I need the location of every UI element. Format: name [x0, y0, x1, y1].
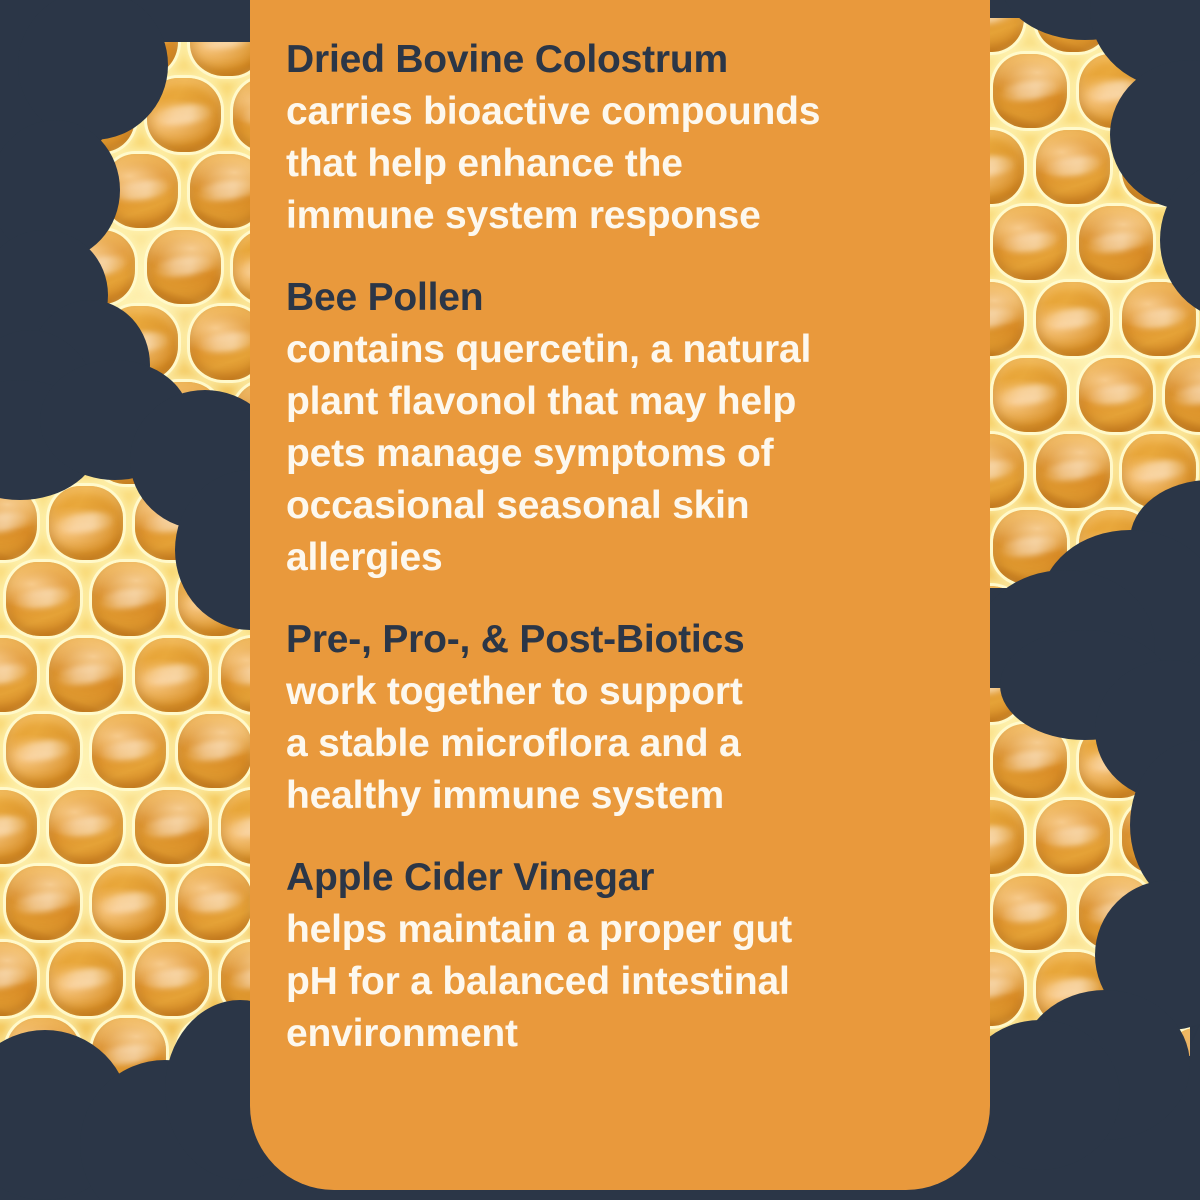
- honeycomb-cell: [993, 358, 1067, 432]
- ingredient-description-line: work together to support: [286, 666, 950, 718]
- ingredient-description-line: a stable microflora and a: [286, 718, 950, 770]
- honeycomb-cell: [135, 638, 209, 712]
- ingredient-name-0: Dried Bovine Colostrum: [286, 34, 950, 86]
- honeycomb-cell: [135, 790, 209, 864]
- ingredient-description-line: immune system response: [286, 190, 950, 242]
- honeycomb-cell: [92, 562, 166, 636]
- honeycomb-cell: [49, 486, 123, 560]
- ingredient-block-1: Bee Pollen contains quercetin, a natural…: [286, 272, 950, 584]
- honeycomb-cell: [1036, 130, 1110, 204]
- ingredient-description-line: plant flavonol that may help: [286, 376, 950, 428]
- honeycomb-cell: [49, 942, 123, 1016]
- ingredient-name-2: Pre-, Pro-, & Post-Biotics: [286, 614, 950, 666]
- ingredient-description-line: helps maintain a proper gut: [286, 904, 950, 956]
- ingredient-description-line: pH for a balanced intestinal: [286, 956, 950, 1008]
- ingredient-description-line: allergies: [286, 532, 950, 584]
- honeycomb-cell: [1036, 282, 1110, 356]
- honeycomb-cell: [1036, 800, 1110, 874]
- honeycomb-cell: [6, 866, 80, 940]
- honeycomb-cell: [147, 230, 221, 304]
- honeycomb-cell: [6, 714, 80, 788]
- ingredient-block-3: Apple Cider Vinegar helps maintain a pro…: [286, 852, 950, 1060]
- honeycomb-cell: [1079, 358, 1153, 432]
- ingredient-description-1: contains quercetin, a natural plant flav…: [286, 324, 950, 584]
- honeycomb-cell: [49, 638, 123, 712]
- ingredient-description-line: that help enhance the: [286, 138, 950, 190]
- ingredient-description-line: contains quercetin, a natural: [286, 324, 950, 376]
- honeycomb-cell: [990, 18, 1024, 52]
- honeycomb-cell: [993, 876, 1067, 950]
- honeycomb-cell: [135, 942, 209, 1016]
- honeycomb-cell: [178, 866, 252, 940]
- ingredient-description-line: healthy immune system: [286, 770, 950, 822]
- honeycomb-cell: [178, 714, 252, 788]
- honeycomb-cell: [1036, 434, 1110, 508]
- honeycomb-cell: [92, 714, 166, 788]
- honeycomb-cell: [1079, 206, 1153, 280]
- honeycomb-cell: [92, 866, 166, 940]
- honeycomb-cell: [990, 800, 1024, 874]
- ingredient-description-2: work together to support a stable microf…: [286, 666, 950, 822]
- honeycomb-cell: [6, 562, 80, 636]
- product-ingredient-infographic: Dried Bovine Colostrum carries bioactive…: [0, 0, 1200, 1200]
- honeycomb-cell: [0, 790, 37, 864]
- ingredient-block-0: Dried Bovine Colostrum carries bioactive…: [286, 34, 950, 242]
- ingredient-description-line: carries bioactive compounds: [286, 86, 950, 138]
- ingredient-description-0: carries bioactive compounds that help en…: [286, 86, 950, 242]
- honeycomb-cell: [1165, 358, 1200, 432]
- honeycomb-cell: [49, 790, 123, 864]
- honeycomb-cell: [993, 54, 1067, 128]
- honeycomb-cell: [990, 434, 1024, 508]
- honeycomb-cell: [990, 130, 1024, 204]
- ingredient-description-line: pets manage symptoms of: [286, 428, 950, 480]
- ingredient-description-3: helps maintain a proper gut pH for a bal…: [286, 904, 950, 1060]
- honeycomb-cell: [0, 942, 37, 1016]
- honeycomb-cell: [993, 206, 1067, 280]
- ingredient-description-line: occasional seasonal skin: [286, 480, 950, 532]
- honeycomb-cell: [0, 638, 37, 712]
- honeycomb-cell: [990, 952, 1024, 1026]
- ingredient-description-line: environment: [286, 1008, 950, 1060]
- ingredient-name-3: Apple Cider Vinegar: [286, 852, 950, 904]
- ingredient-block-2: Pre-, Pro-, & Post-Biotics work together…: [286, 614, 950, 822]
- honeycomb-cell: [990, 282, 1024, 356]
- ingredient-name-1: Bee Pollen: [286, 272, 950, 324]
- ingredient-panel: Dried Bovine Colostrum carries bioactive…: [250, 0, 990, 1190]
